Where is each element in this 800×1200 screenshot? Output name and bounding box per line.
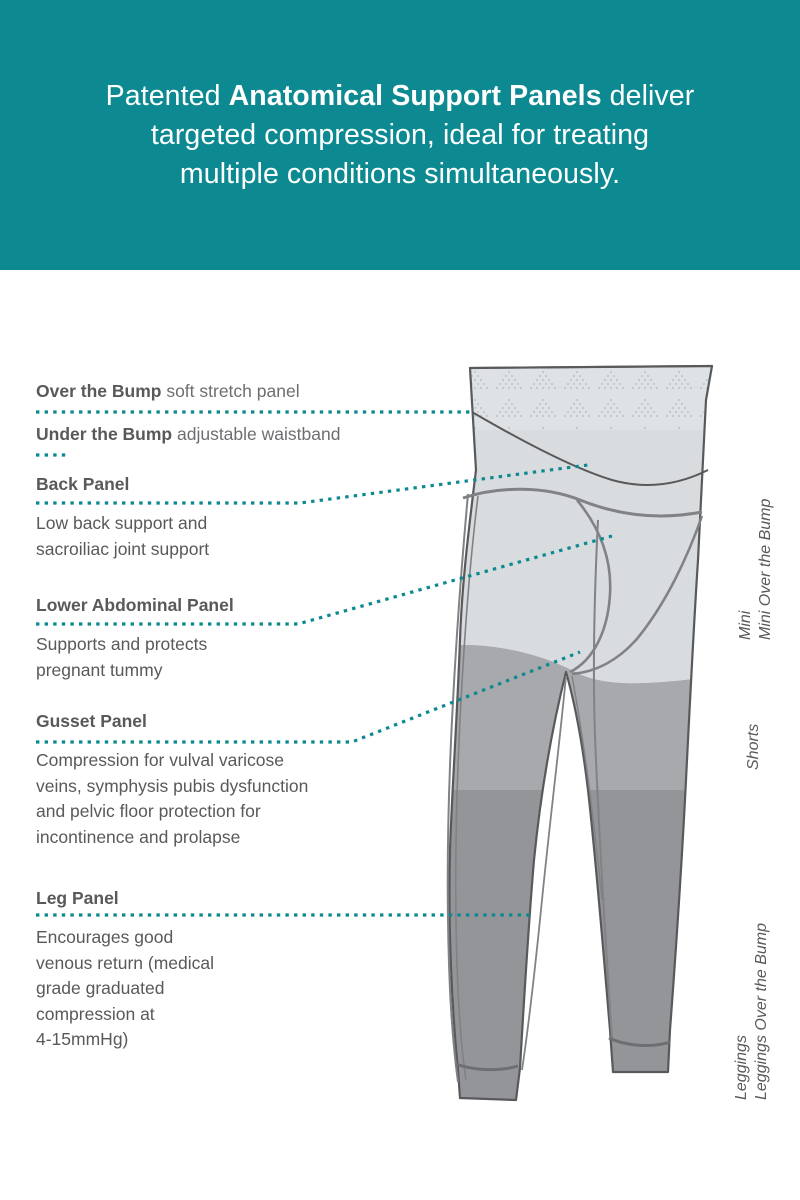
center-seam <box>594 520 612 1040</box>
heading-rest: soft stretch panel <box>161 381 299 401</box>
annotation-over-the-bump: Over the Bump soft stretch panel <box>36 380 300 402</box>
banner-line1-post: deliver <box>602 80 695 112</box>
annotation-column: Over the Bump soft stretch panel Under t… <box>0 270 470 1200</box>
header-banner: Patented Anatomical Support Panels deliv… <box>0 0 800 270</box>
banner-line1-bold: Anatomical Support Panels <box>229 80 602 112</box>
shorts-panel <box>430 645 750 790</box>
gusset-seam-left <box>570 500 610 672</box>
annotation-back-panel: Back Panel Low back support and sacroili… <box>36 473 209 562</box>
annotation-heading: Lower Abdominal Panel <box>36 594 234 616</box>
banner-headline: Patented Anatomical Support Panels deliv… <box>82 77 719 194</box>
ankle-cuff-right <box>609 1038 670 1045</box>
annotation-heading: Over the Bump soft stretch panel <box>36 380 300 402</box>
annotation-body: Compression for vulval varicose veins, s… <box>36 748 308 850</box>
garment-outline <box>449 366 712 1100</box>
annotation-body: Encourages good venous return (medical g… <box>36 925 214 1053</box>
annotation-body: Low back support and sacroiliac joint su… <box>36 511 209 562</box>
heading-rest: adjustable waistband <box>172 424 340 444</box>
banner-line1-pre: Patented <box>106 80 229 112</box>
side-label-leggings-line1: Leggings <box>732 1035 751 1100</box>
annotation-heading: Back Panel <box>36 473 209 495</box>
banner-line2: targeted compression, ideal for treating <box>151 119 649 151</box>
annotation-gusset-panel: Gusset Panel Compression for vulval vari… <box>36 710 308 850</box>
annotation-body: Supports and protects pregnant tummy <box>36 632 234 683</box>
annotation-leg-panel: Leg Panel Encourages good venous return … <box>36 887 214 1053</box>
waistband-top-edge <box>470 366 712 368</box>
annotation-heading: Gusset Panel <box>36 710 308 732</box>
heading-bold: Over the Bump <box>36 381 161 401</box>
side-label-mini-line2: Mini Over the Bump <box>756 499 775 640</box>
annotation-under-the-bump: Under the Bump adjustable waistband <box>36 423 340 445</box>
side-label-leggings-line2: Leggings Over the Bump <box>752 923 771 1100</box>
heading-bold: Back Panel <box>36 474 129 494</box>
annotation-heading: Under the Bump adjustable waistband <box>36 423 340 445</box>
side-label-mini-line1: Mini <box>736 611 755 640</box>
annotation-lower-abdominal-panel: Lower Abdominal Panel Supports and prote… <box>36 594 234 683</box>
heading-bold: Under the Bump <box>36 424 172 444</box>
infographic-root: Patented Anatomical Support Panels deliv… <box>0 0 800 1200</box>
inner-seam-right <box>572 676 602 900</box>
leg-panel-fill <box>430 790 750 1190</box>
size-variant-labels: Mini Mini Over the Bump Shorts Leggings … <box>718 270 800 1200</box>
heading-bold: Leg Panel <box>36 888 119 908</box>
heading-bold: Lower Abdominal Panel <box>36 595 234 615</box>
abdominal-seam <box>463 489 702 516</box>
waistband-seam <box>472 412 708 485</box>
garment-body <box>430 340 750 1190</box>
banner-line3: multiple conditions simultaneously. <box>180 158 620 190</box>
inner-seam-left <box>522 676 566 1070</box>
side-label-shorts: Shorts <box>744 724 763 770</box>
annotation-heading: Leg Panel <box>36 887 214 909</box>
gusset-seam-right <box>572 516 702 674</box>
heading-bold: Gusset Panel <box>36 711 147 731</box>
